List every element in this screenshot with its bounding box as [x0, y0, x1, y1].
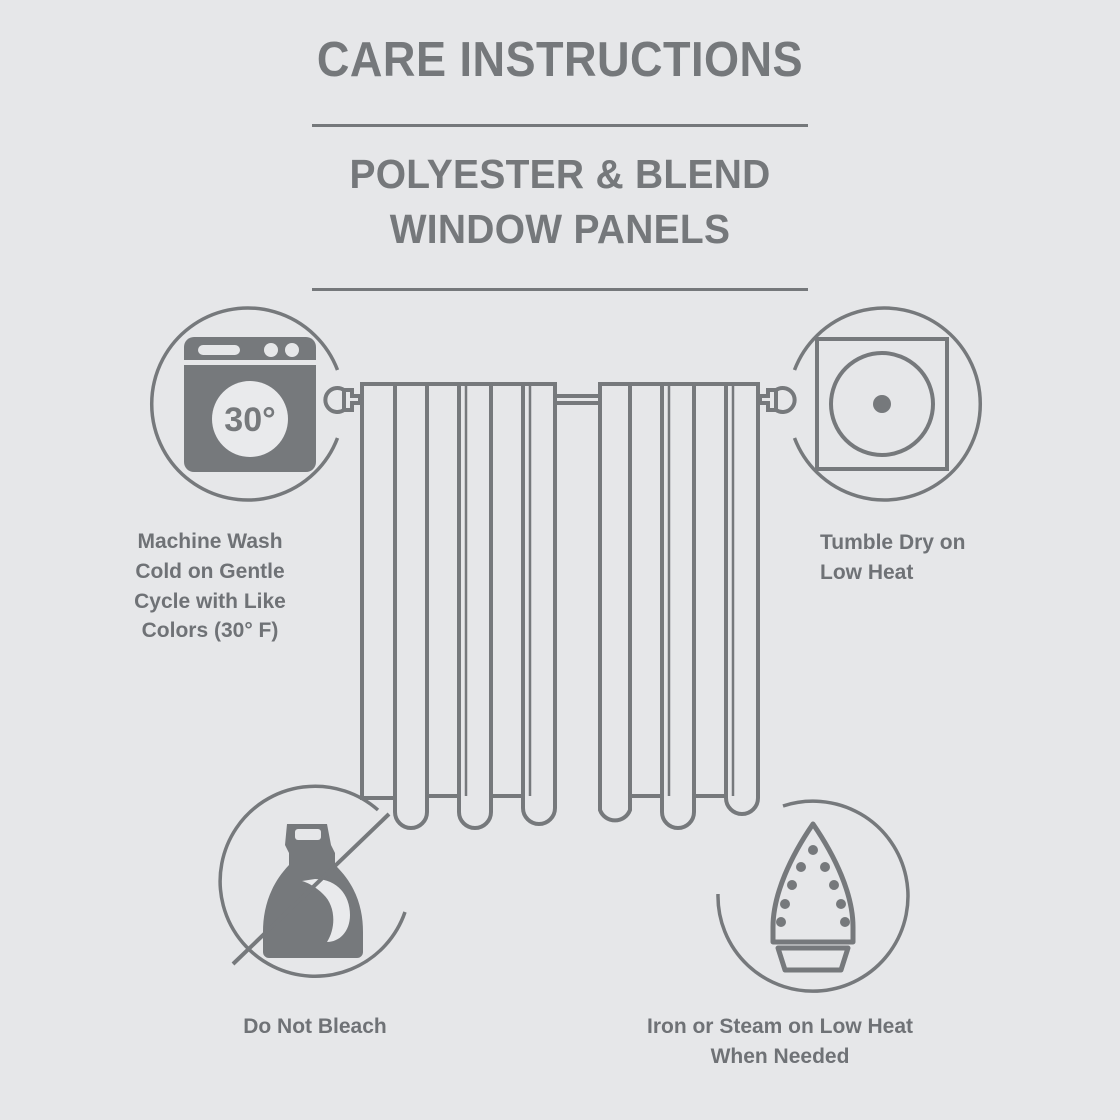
care-instructions-infographic: CARE INSTRUCTIONS POLYESTER & BLEND WIND… [0, 0, 1120, 1120]
wash-caption-line-2: Cold on Gentle [64, 557, 356, 587]
wash-temperature-label: 30° [224, 401, 275, 439]
divider-top [312, 124, 808, 127]
iron-icon-ring [718, 801, 908, 991]
divider-bottom [312, 288, 808, 291]
curtain-panel-right [600, 384, 758, 828]
bleach-caption: Do Not Bleach [155, 1012, 475, 1042]
wash-caption-line-3: Cycle with Like [64, 587, 356, 617]
bleach-caption-line-1: Do Not Bleach [155, 1012, 475, 1042]
dry-caption-line-1: Tumble Dry on [820, 528, 1120, 558]
wash-caption: Machine Wash Cold on Gentle Cycle with L… [64, 527, 356, 646]
wash-icon-badge: 30° [140, 292, 360, 517]
iron-caption-line-1: Iron or Steam on Low Heat [580, 1012, 980, 1042]
subtitle-line-1: POLYESTER & BLEND [28, 147, 1092, 202]
page-title: CARE INSTRUCTIONS [45, 36, 1075, 85]
curtain-panel-left [362, 384, 555, 828]
tumble-dry-heat-dot [873, 395, 891, 413]
bleach-bottle-icon [263, 824, 363, 958]
iron-icon-badge [705, 782, 920, 997]
dry-caption: Tumble Dry on Low Heat [820, 528, 1120, 588]
page-subtitle: POLYESTER & BLEND WINDOW PANELS [28, 147, 1092, 258]
dry-icon-badge [772, 292, 992, 517]
bleach-icon-badge [205, 782, 420, 997]
dry-caption-line-2: Low Heat [820, 558, 1120, 588]
subtitle-line-2: WINDOW PANELS [28, 202, 1092, 257]
wash-caption-line-4: Colors (30° F) [64, 616, 356, 646]
iron-caption-line-2: When Needed [580, 1042, 980, 1072]
wash-caption-line-1: Machine Wash [64, 527, 356, 557]
iron-caption: Iron or Steam on Low Heat When Needed [580, 1012, 980, 1072]
curtain-rod [555, 396, 600, 403]
iron-steam-vent-dots [776, 845, 850, 927]
